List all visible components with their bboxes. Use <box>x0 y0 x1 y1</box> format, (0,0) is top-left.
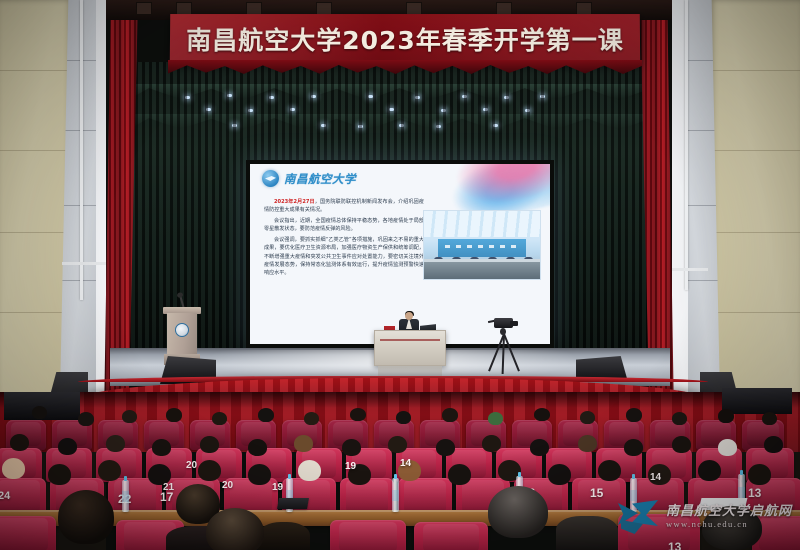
water-bottle <box>392 478 399 512</box>
slide-logo: 南昌航空大学 <box>262 170 356 187</box>
right-tan-wall-panel <box>710 0 800 430</box>
slide-paragraph-1: 2023年2月27日，国务院联防联控机制新闻发布会，介绍巩固疫情防控重大成果有关… <box>264 198 424 215</box>
inset-photo-ceiling <box>424 211 540 237</box>
left-wall-conduit <box>80 0 83 300</box>
inset-photo-panel-desk <box>424 259 540 279</box>
camera-lens-icon <box>510 321 518 326</box>
seat-number: 13 <box>748 486 761 500</box>
event-banner-text: 南昌航空大学2023年春季开学第一课 <box>186 21 624 57</box>
slide-paragraph-3: 会议强调，要抓实抓细“乙类乙管”各项措施，巩固来之不易的重大成果，要优化医疗卫生… <box>264 236 424 277</box>
seat-number: 14 <box>400 458 411 469</box>
seat-number: 19 <box>272 482 283 493</box>
university-logo-icon <box>262 170 279 187</box>
notebook-on-desk <box>277 498 309 509</box>
seat-number: 20 <box>186 460 197 471</box>
inset-photo-backdrop <box>438 239 526 257</box>
nchu-arrow-logo-icon <box>618 500 662 534</box>
left-wall-conduit-horizontal <box>62 262 108 265</box>
video-camera-tripod <box>486 318 520 374</box>
seat-number: 15 <box>590 486 603 500</box>
lectern-emblem-icon <box>175 323 189 337</box>
slide-logo-wordmark: 南昌航空大学 <box>284 171 356 187</box>
slide-inset-photo <box>423 210 541 280</box>
seat-number: 14 <box>650 472 661 483</box>
site-watermark: 南昌航空大学启航网 www.nchu.edu.cn <box>618 500 792 534</box>
watermark-site-name: 南昌航空大学启航网 <box>666 505 792 518</box>
seat-number: 19 <box>345 461 356 472</box>
event-banner: 南昌航空大学2023年春季开学第一课 <box>170 14 640 64</box>
slide-paragraph-2: 会议指出，近期，全国疫情总体保持平稳态势，各地疫情处于局部零星散发状态，要防范疫… <box>264 217 424 234</box>
presenter-podium-table <box>374 330 446 366</box>
water-bottle <box>122 480 129 512</box>
seat-number: 20 <box>222 480 233 491</box>
slide-date-highlight: 2023年2月27日 <box>274 199 315 205</box>
auditorium-photo: 南昌航空大学2023年春季开学第一课 南昌航空大学 2023年2月27日，国务院… <box>0 0 800 550</box>
seat-number: 24 <box>0 490 10 502</box>
slide-body-text: 2023年2月27日，国务院联防联控机制新闻发布会，介绍巩固疫情防控重大成果有关… <box>264 198 424 280</box>
seat-number: 17 <box>160 490 173 504</box>
watermark-url: www.nchu.edu.cn <box>666 520 792 529</box>
seat-number: 13 <box>668 540 681 550</box>
right-wall-conduit <box>685 0 688 290</box>
